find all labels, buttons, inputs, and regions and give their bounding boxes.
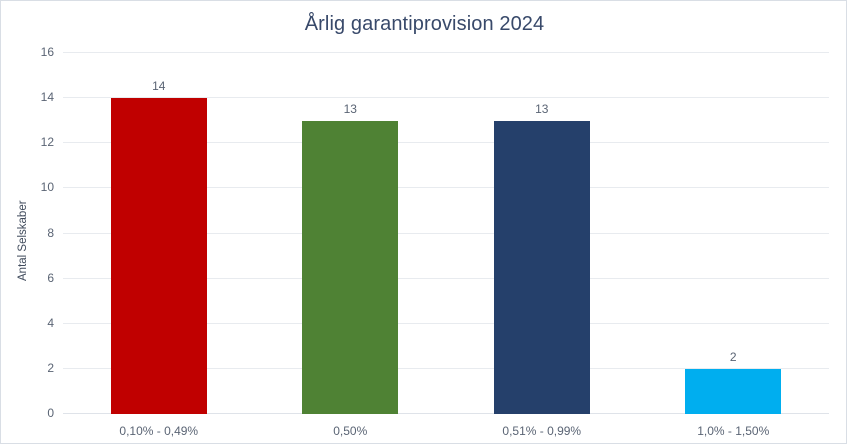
y-axis-title: Antal Selskaber [15,181,31,301]
y-tick-label: 4 [47,316,54,330]
y-tick-label: 6 [47,271,54,285]
bar-value-label: 2 [730,350,737,364]
x-tick-label: 0,50% [333,424,367,438]
y-tick-label: 14 [41,90,54,104]
bar-value-label: 13 [535,102,548,116]
x-tick-label: 1,0% - 1,50% [697,424,769,438]
plot-area: 16141210864201413132 [63,53,829,414]
chart-title: Årlig garantiprovision 2024 [1,13,847,36]
y-tick-label: 12 [41,135,54,149]
bar[interactable]: 13 [494,121,590,414]
bar-value-label: 14 [152,79,165,93]
x-axis: 0,10% - 0,49%0,50%0,51% - 0,99%1,0% - 1,… [63,415,829,444]
y-tick-label: 8 [47,226,54,240]
x-tick-label: 0,10% - 0,49% [119,424,198,438]
bar[interactable]: 2 [685,369,781,414]
y-tick-label: 2 [47,361,54,375]
y-tick-label: 16 [41,45,54,59]
bar-value-label: 13 [344,102,357,116]
gridline: 16 [63,52,829,53]
x-tick-label: 0,51% - 0,99% [502,424,581,438]
y-tick-label: 10 [41,180,54,194]
y-tick-label: 0 [47,406,54,420]
chart-container: Årlig garantiprovision 2024 Antal Selska… [0,0,847,444]
bar[interactable]: 14 [111,98,207,414]
bar[interactable]: 13 [302,121,398,414]
